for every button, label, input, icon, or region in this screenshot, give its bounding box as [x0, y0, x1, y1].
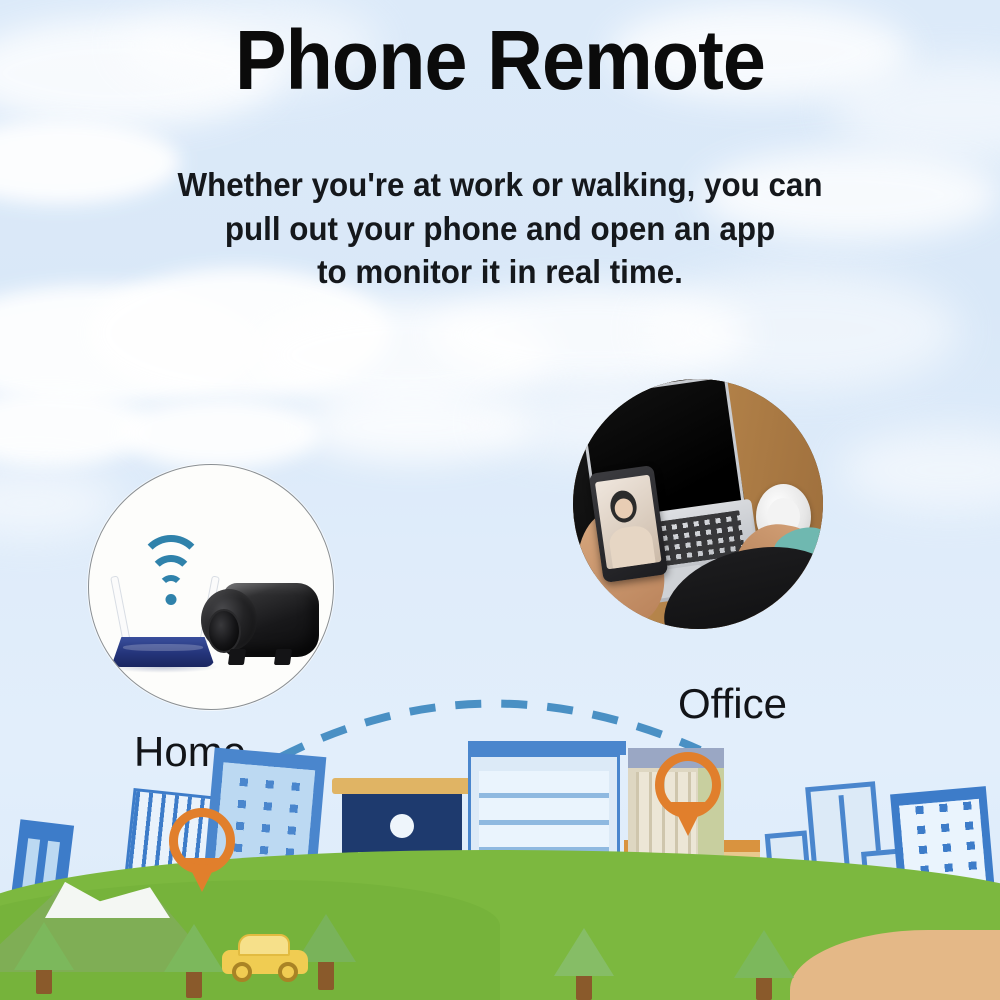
subtitle-line-3: to monitor it in real time. [25, 250, 975, 294]
pin-ring [655, 752, 721, 818]
tree [164, 916, 224, 998]
tree [736, 930, 792, 1000]
phone-usage-photo-inset [573, 379, 823, 629]
cloud-icon [120, 398, 320, 468]
cloud-icon [0, 470, 120, 536]
cityscape-illustration [0, 740, 1000, 1000]
page-title: Phone Remote [40, 18, 960, 102]
video-call-person-body [607, 524, 656, 568]
clock-face [390, 814, 414, 838]
tree [14, 916, 74, 994]
subtitle-line-1: Whether you're at work or walking, you c… [25, 163, 975, 207]
map-pin-office-icon[interactable] [655, 752, 721, 838]
cloud-icon [840, 430, 1000, 510]
wifi-icon [139, 553, 203, 601]
roof-tan [332, 778, 472, 794]
label-office: Office [678, 683, 787, 725]
smartphone-screen [595, 474, 661, 569]
subtitle-line-2: pull out your phone and open an app [25, 207, 975, 251]
page-subtitle: Whether you're at work or walking, you c… [25, 163, 975, 294]
car-icon [222, 936, 308, 982]
pin-ring [169, 808, 235, 874]
video-call-person-face [608, 489, 638, 524]
tree [556, 926, 612, 1000]
map-pin-home-icon[interactable] [169, 808, 235, 894]
product-marketing-poster: Phone Remote Whether you're at work or w… [0, 0, 1000, 1000]
